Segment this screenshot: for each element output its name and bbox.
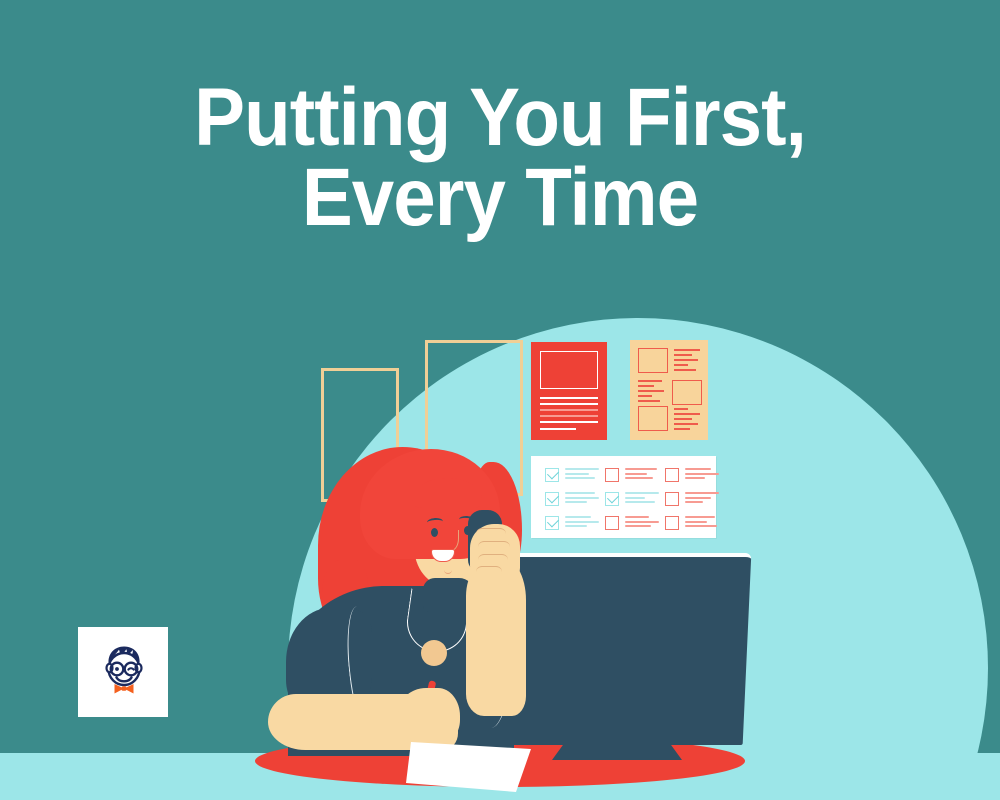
poster-tan-text-line xyxy=(674,413,700,415)
checklist-item xyxy=(545,468,603,482)
poster-tan-square xyxy=(638,348,668,373)
checklist-item xyxy=(665,516,723,530)
poster-tan-square xyxy=(638,406,668,431)
character-finger xyxy=(478,541,510,553)
character-eye xyxy=(431,528,438,537)
checkbox-checked-icon xyxy=(545,468,559,482)
poster-tan-text-line xyxy=(674,359,698,361)
checkbox-empty-icon xyxy=(605,516,619,530)
character-eyebrow xyxy=(427,517,444,526)
checklist-item xyxy=(665,468,723,482)
checkbox-empty-icon xyxy=(665,516,679,530)
poster-tan-square xyxy=(672,380,702,405)
poster-red xyxy=(531,342,607,440)
checklist-item xyxy=(665,492,723,506)
checkbox-checked-icon xyxy=(605,492,619,506)
poster-tan-text-line xyxy=(638,390,664,392)
poster-tan xyxy=(630,340,708,440)
poster-tan-text-line xyxy=(674,369,696,371)
poster-tan-text-line xyxy=(674,364,688,366)
checklist-item xyxy=(605,516,663,530)
poster-red-text-line xyxy=(540,403,598,405)
checklist-item xyxy=(545,492,603,506)
poster-tan-text-line xyxy=(674,418,692,420)
poster-tan-text-line xyxy=(674,349,700,351)
poster-tan-text-line xyxy=(638,380,662,382)
character-finger xyxy=(478,554,508,566)
poster-tan-text-line xyxy=(674,428,690,430)
poster-red-text-line xyxy=(540,415,598,417)
necklace-pendant xyxy=(421,640,447,666)
checkbox-checked-icon xyxy=(545,492,559,506)
poster-red-text-line xyxy=(540,428,576,430)
logo-badge[interactable] xyxy=(78,627,168,717)
poster-tan-text-line xyxy=(674,423,698,425)
character-hand-writing xyxy=(398,688,460,746)
checklist-item xyxy=(605,468,663,482)
poster-red-text-line xyxy=(540,409,598,411)
mascot-face-icon xyxy=(100,643,148,695)
poster-red-text-line xyxy=(540,397,598,399)
checklist-board xyxy=(531,456,716,538)
checklist-item xyxy=(545,516,603,530)
character-finger xyxy=(476,566,502,578)
poster-canvas: Putting You First, Every Time xyxy=(0,0,1000,800)
poster-tan-text-line xyxy=(674,408,688,410)
character-chin xyxy=(444,566,452,574)
character-finger xyxy=(476,528,506,540)
checklist-item xyxy=(605,492,663,506)
checkbox-empty-icon xyxy=(665,492,679,506)
headline-line-2: Every Time xyxy=(35,158,965,238)
checkbox-empty-icon xyxy=(605,468,619,482)
poster-tan-text-line xyxy=(638,385,654,387)
paper-sheet xyxy=(406,742,531,792)
poster-red-text-line xyxy=(540,421,598,423)
page-title: Putting You First, Every Time xyxy=(35,78,965,237)
poster-tan-text-line xyxy=(674,354,692,356)
checkbox-checked-icon xyxy=(545,516,559,530)
poster-tan-text-line xyxy=(638,395,652,397)
headline-line-1: Putting You First, xyxy=(194,72,806,163)
poster-tan-text-line xyxy=(638,400,660,402)
poster-red-image-placeholder xyxy=(540,351,598,389)
checkbox-empty-icon xyxy=(665,468,679,482)
